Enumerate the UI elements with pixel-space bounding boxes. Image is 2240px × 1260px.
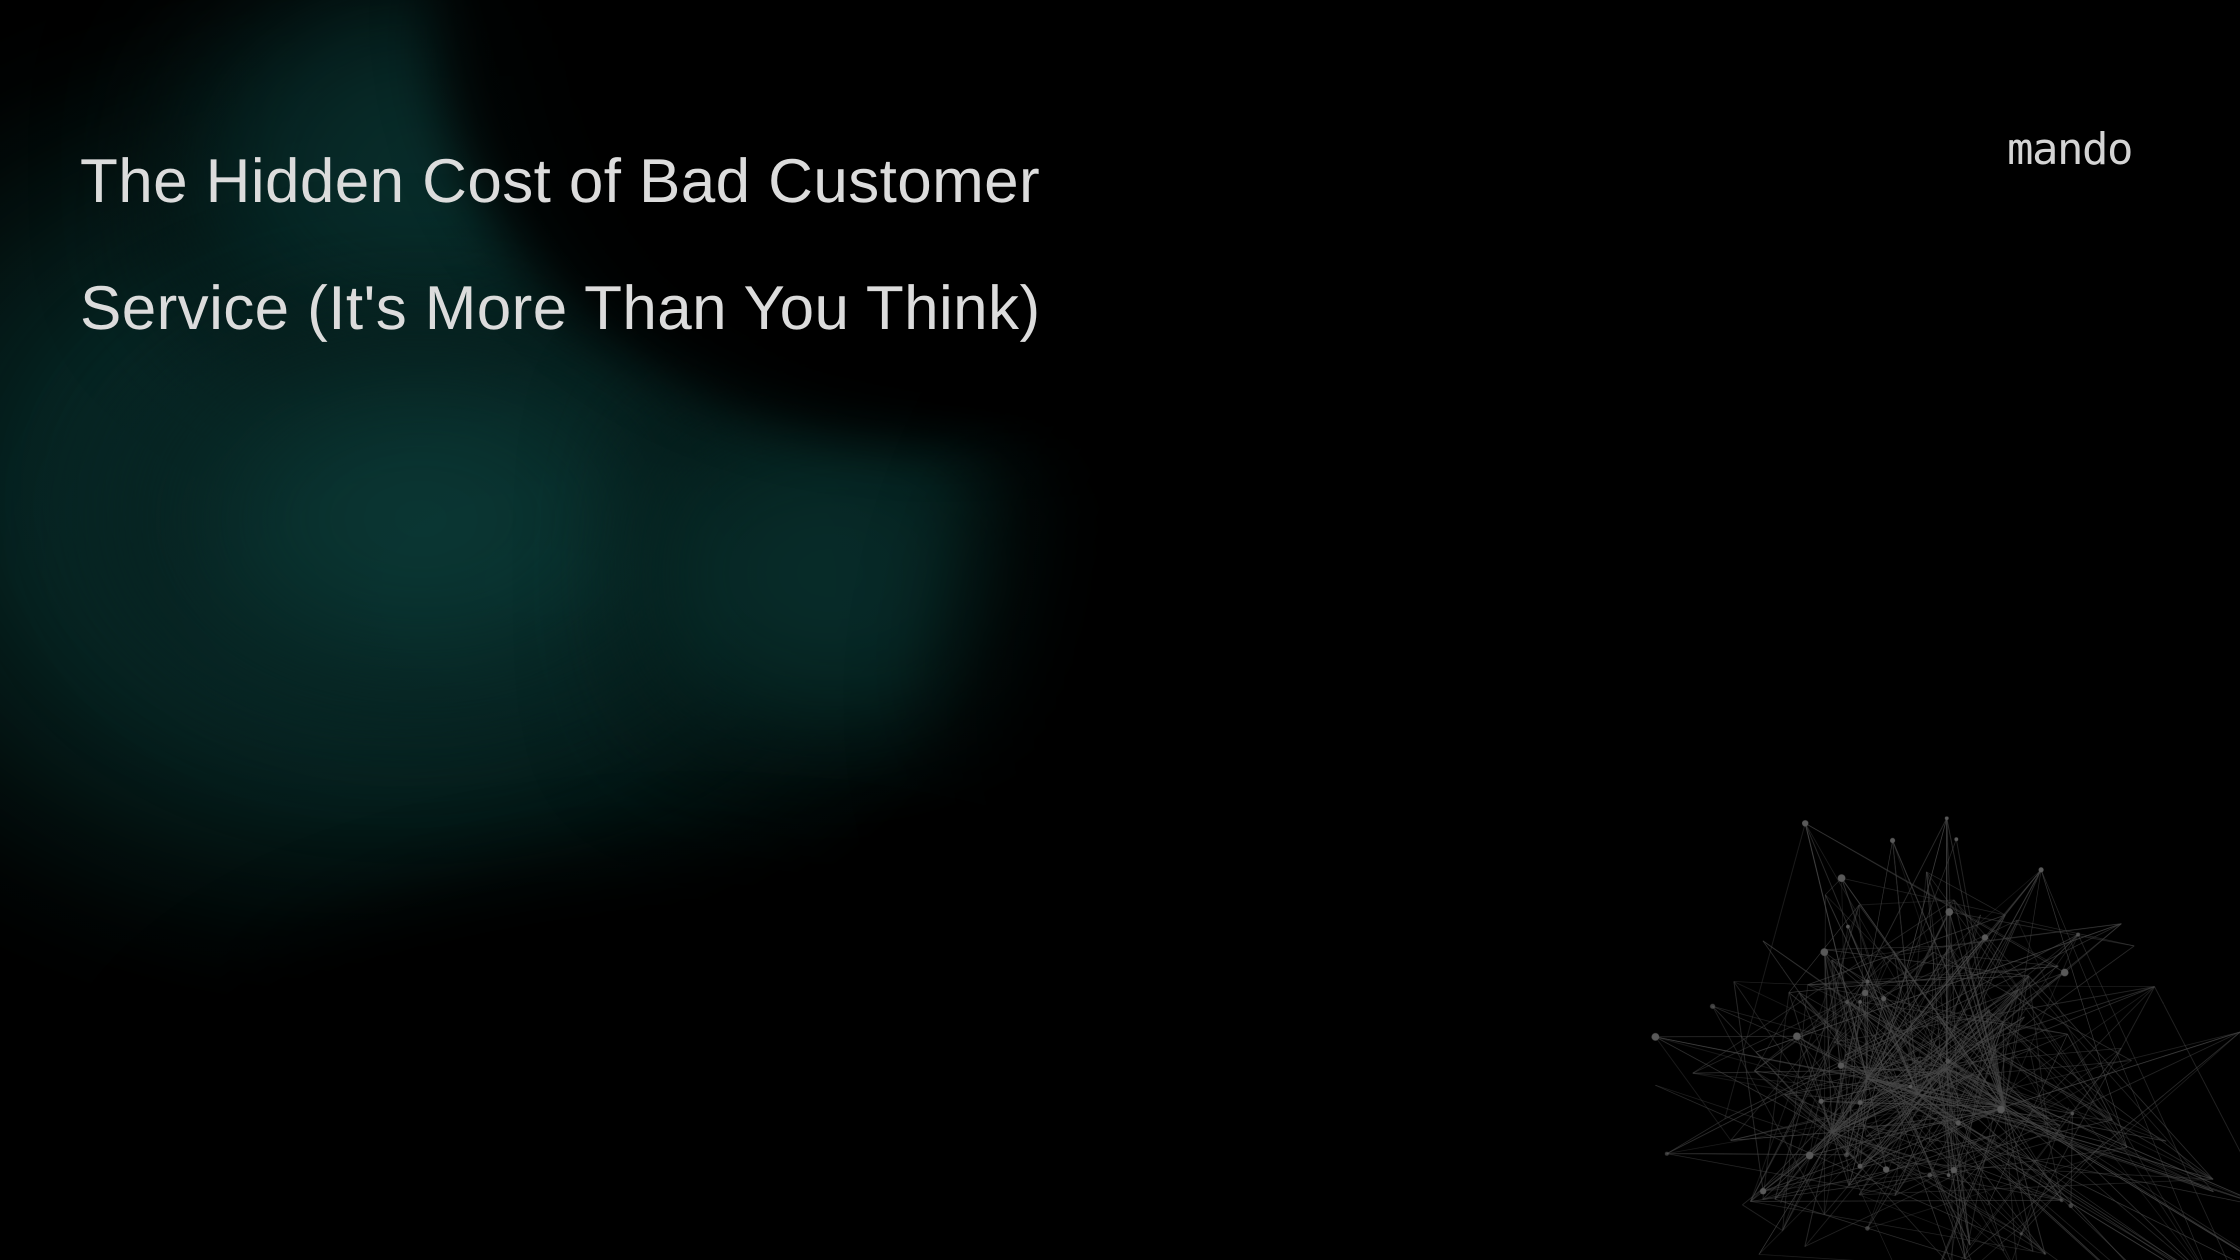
title-line-2: Service (It's More Than You Think) [80,245,1560,372]
slide-canvas: The Hidden Cost of Bad Customer Service … [0,0,2240,1260]
mando-logo: mando [2007,128,2132,172]
page-title: The Hidden Cost of Bad Customer Service … [80,118,1560,372]
title-line-1: The Hidden Cost of Bad Customer [80,118,1560,245]
